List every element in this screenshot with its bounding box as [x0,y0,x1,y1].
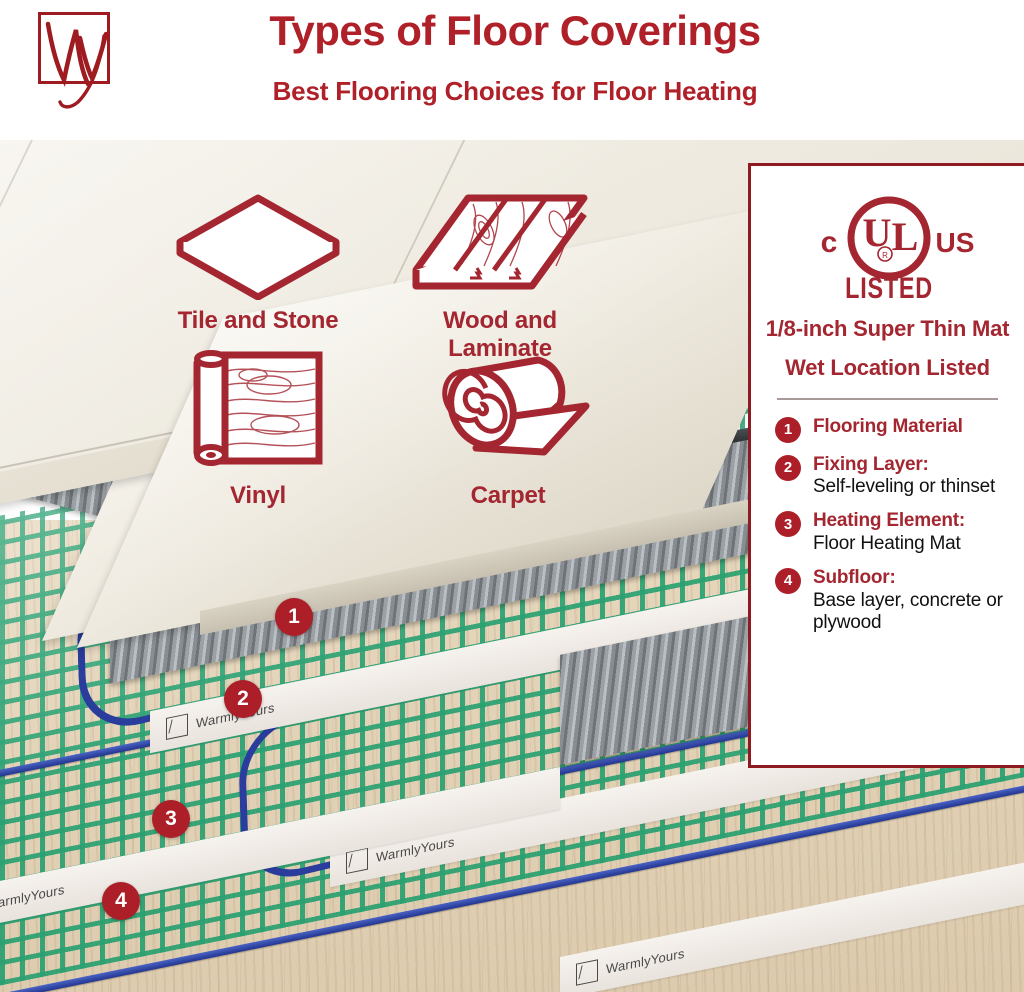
flooring-option-tile: Tile and Stone [150,190,366,335]
flooring-option-vinyl: Vinyl [160,345,356,510]
legend-title: Flooring Material [813,416,963,439]
svg-text:R: R [882,251,888,260]
wy-logo-icon [576,959,598,985]
panel-headline-thin-mat: 1/8-inch Super Thin Mat [751,316,1024,343]
infographic-root: WarmlyYours WarmlyYours WarmlyYours Warm… [0,0,1024,992]
panel-headline-wet-location: Wet Location Listed [751,355,1024,382]
legend-title: Fixing Layer: [813,454,995,477]
legend-desc: Self-leveling or thinset [813,476,995,499]
flooring-option-label: Tile and Stone [150,307,366,335]
carpet-roll-icon [418,350,598,475]
ul-listed-mark: c U L R US LISTED [751,188,1024,306]
legend-title: Subfloor: [813,567,1024,590]
legend-title: Heating Element: [813,510,965,533]
mat-brand-label: WarmlyYours [0,881,65,912]
legend-item: 4 Subfloor: Base layer, concrete or plyw… [775,567,1024,635]
svg-text:LISTED: LISTED [845,271,933,304]
legend-desc: Base layer, concrete or plywood [813,590,1024,636]
legend-badge: 4 [775,568,801,594]
photo-callout-3: 3 [152,800,190,838]
photo-callout-4: 4 [102,882,140,920]
svg-text:U: U [863,210,892,255]
page-title: Types of Floor Coverings [120,8,910,53]
legend-desc: Floor Heating Mat [813,533,965,556]
legend-item: 3 Heating Element: Floor Heating Mat [775,510,1024,556]
legend-badge: 3 [775,511,801,537]
svg-text:L: L [892,214,919,259]
panel-divider [777,398,998,400]
mat-brand-label: WarmlyYours [606,945,685,976]
legend-badge: 1 [775,417,801,443]
wood-plank-icon [410,190,590,300]
spec-panel: c U L R US LISTED 1/8-inch Super Thin Ma… [748,163,1024,768]
flooring-option-wood: Wood and Laminate [392,190,608,363]
page-header: Types of Floor Coverings Best Flooring C… [0,0,1024,140]
flooring-option-carpet: Carpet [410,350,606,510]
photo-callout-2: 2 [224,680,262,718]
photo-callout-1: 1 [275,598,313,636]
vinyl-roll-icon [183,345,333,475]
page-subtitle: Best Flooring Choices for Floor Heating [120,76,910,107]
tile-slab-icon [173,190,343,300]
layer-legend-list: 1 Flooring Material 2 Fixing Layer: Self… [775,416,1024,636]
flooring-option-label: Carpet [410,482,606,510]
warmlyyours-wy-logo-icon [30,6,122,110]
svg-text:c: c [821,226,838,259]
cul-us-listed-icon: c U L R US LISTED [751,188,1024,306]
wy-logo-icon [166,713,188,739]
legend-item: 2 Fixing Layer: Self-leveling or thinset [775,454,1024,500]
flooring-option-label: Vinyl [160,482,356,510]
legend-item: 1 Flooring Material [775,416,1024,443]
svg-text:US: US [936,227,975,258]
legend-badge: 2 [775,455,801,481]
